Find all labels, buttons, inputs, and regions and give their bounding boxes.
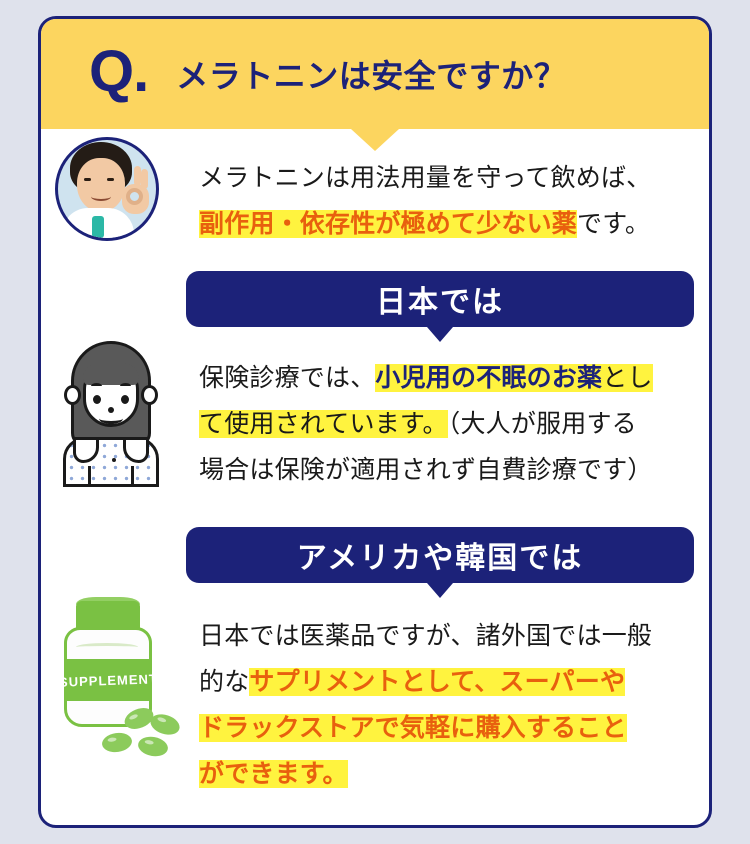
japan-text-block: 保険診療では、小児用の不眠のお薬とし て使用されています。（大人が服用する 場合… [199,355,709,493]
highlight-span: 小児用の不眠のお薬 [375,364,602,392]
banner-label: 日本では [376,277,504,321]
text-line: 日本では医薬品ですが、諸外国では一般 [199,613,709,659]
bottle-label-text: SUPPLEMENT [58,671,157,689]
doctor-avatar [49,137,165,253]
question-header: Q. メラトニンは安全ですか？ [41,19,709,129]
banner-label: アメリカや韓国では [297,533,584,577]
question-mark-label: Q. [89,43,148,105]
capsule-icon [137,735,170,759]
ok-gesture-icon [120,168,152,216]
supplement-bottle-illustration: SUPPLEMENT [45,597,177,765]
text-line: 場合は保険が適用されず自費診療です） [199,447,709,493]
text-line: 副作用・依存性が極めて少ない薬です。 [199,201,699,247]
text-span: 場合は保険が適用されず自費診療です） [199,456,653,484]
banner-overseas-pointer [427,583,453,598]
banner-japan: 日本では [186,271,694,327]
text-span: 保険診療では、 [199,364,375,392]
text-line: ドラックストアで気軽に購入すること [199,705,709,751]
highlight-span: ができます。 [199,760,348,788]
highlight-span: とし [602,364,652,392]
bottle-label: SUPPLEMENT [64,659,152,701]
overseas-text-block: 日本では医薬品ですが、諸外国では一般 的なサプリメントとして、スーパーや ドラッ… [199,613,709,797]
question-header-pointer [351,129,399,151]
supplement-bottle: SUPPLEMENT [46,597,176,757]
text-span: 日本では医薬品ですが、諸外国では一般 [199,622,652,650]
infographic-stage: Q. メラトニンは安全ですか？ [0,0,750,844]
text-line: メラトニンは用法用量を守って飲めば、 [199,155,699,201]
text-span: です。 [577,210,650,238]
intro-text-block: メラトニンは用法用量を守って飲めば、 副作用・依存性が極めて少ない薬です。 [199,155,699,247]
text-line: て使用されています。（大人が服用する [199,401,709,447]
page-title: メラトニンは安全ですか？ [176,51,566,97]
banner-overseas: アメリカや韓国では [186,527,694,583]
highlight-span: 副作用・依存性が極めて少ない薬 [199,210,577,238]
girl-illustration [49,337,173,497]
qa-card: Q. メラトニンは安全ですか？ [38,16,712,828]
highlight-span: て使用されています。 [199,410,448,438]
highlight-span: ドラックストアで気軽に購入すること [199,714,627,742]
text-span: （大人が服用する [448,410,637,438]
highlight-span: サプリメントとして、スーパーや [249,668,625,696]
doctor-photo [55,137,159,241]
text-span: メラトニンは用法用量を守って飲めば、 [199,164,651,192]
text-line: 保険診療では、小児用の不眠のお薬とし [199,355,709,401]
girl-figure [55,337,167,487]
text-span: 的な [199,668,249,696]
capsule-icon [148,711,182,738]
text-line: 的なサプリメントとして、スーパーや [199,659,709,705]
banner-japan-pointer [427,327,453,342]
text-line: ができます。 [199,751,709,797]
capsule-icon [101,731,133,754]
